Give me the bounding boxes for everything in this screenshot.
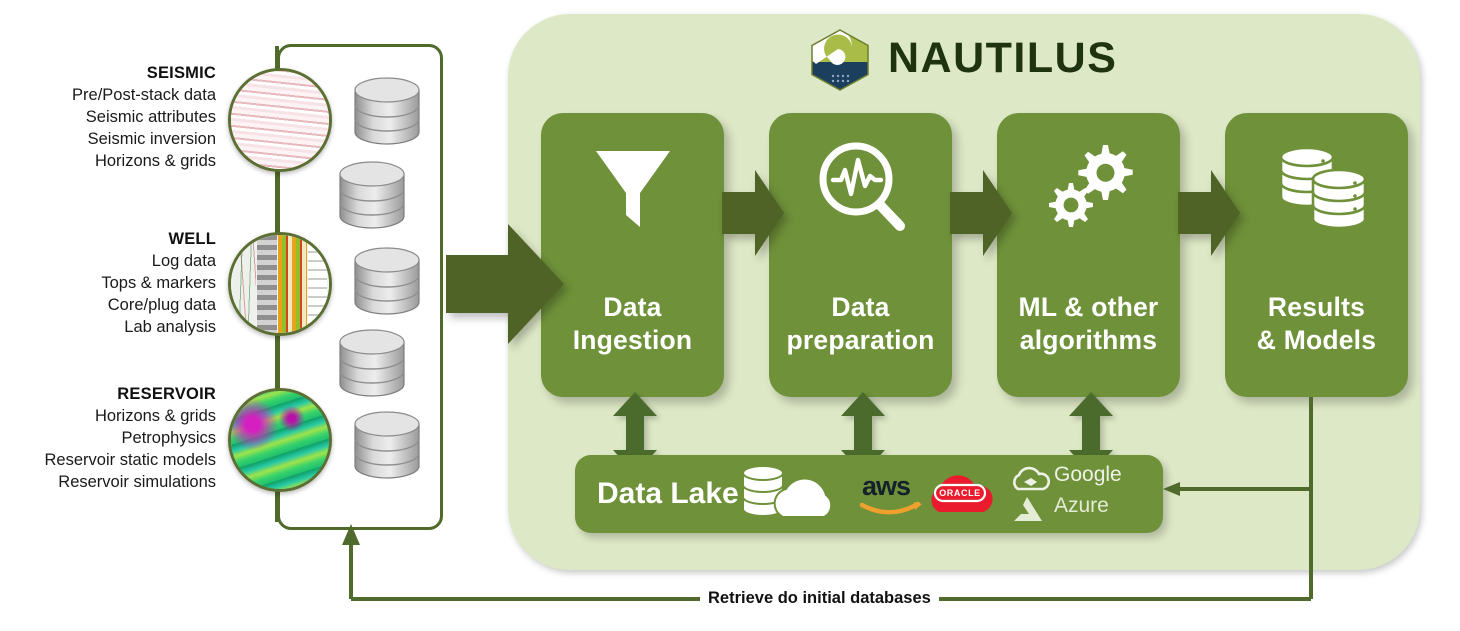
- process-box-ml-algorithms[interactable]: ML & other algorithms: [997, 113, 1180, 397]
- flow-arrow-3: [1178, 170, 1240, 256]
- process-label: ML & other algorithms: [997, 291, 1180, 357]
- azure-logo: [1011, 495, 1047, 523]
- source-item: Horizons & grids: [10, 150, 216, 172]
- flow-arrow-1: [722, 170, 784, 256]
- process-box-data-ingestion[interactable]: Data Ingestion: [541, 113, 724, 397]
- data-lake-label: Data Lake: [597, 477, 739, 511]
- database-cylinder-icon: [337, 162, 407, 230]
- google-label: Google: [1054, 463, 1122, 487]
- google-cloud-logo: [1011, 465, 1047, 491]
- database-cylinder-icon: [352, 78, 422, 146]
- source-block-well: WELL Log data Tops & markers Core/plug d…: [10, 228, 216, 338]
- brand-name: NAUTILUS: [888, 34, 1117, 83]
- source-item: Seismic attributes: [10, 106, 216, 128]
- database-cylinder-icon: [352, 412, 422, 480]
- source-item: Horizons & grids: [2, 405, 216, 427]
- process-box-data-preparation[interactable]: Data preparation: [769, 113, 952, 397]
- database-cylinder-icon: [337, 330, 407, 398]
- oracle-wordmark-frame: [934, 484, 986, 502]
- azure-label: Azure: [1054, 494, 1109, 518]
- feedback-label: Retrieve do initial databases: [700, 589, 939, 608]
- aws-logo: aws: [862, 471, 910, 502]
- gears-icon: [1041, 137, 1141, 237]
- process-box-results-models[interactable]: Results & Models: [1225, 113, 1408, 397]
- process-label: Data preparation: [769, 291, 952, 357]
- aws-swoosh-icon: [860, 501, 922, 517]
- seismic-section-thumbnail: [228, 68, 332, 172]
- database-stack-icon: [1273, 139, 1373, 235]
- source-block-seismic: SEISMIC Pre/Post-stack data Seismic attr…: [10, 62, 216, 172]
- source-item: Tops & markers: [10, 272, 216, 294]
- magnifier-waveform-icon: [815, 139, 909, 235]
- funnel-icon: [592, 145, 674, 233]
- source-item: Pre/Post-stack data: [10, 84, 216, 106]
- source-block-reservoir: RESERVOIR Horizons & grids Petrophysics …: [2, 383, 216, 493]
- source-item: Core/plug data: [10, 294, 216, 316]
- flow-arrow-2: [950, 170, 1012, 256]
- source-title: SEISMIC: [10, 62, 216, 84]
- source-item: Log data: [10, 250, 216, 272]
- nautilus-hexagon-logo: [808, 28, 872, 92]
- database-cylinder-icon: [352, 248, 422, 316]
- source-item: Reservoir static models: [2, 449, 216, 471]
- input-feed-arrow: [446, 222, 564, 346]
- well-log-thumbnail: [228, 232, 332, 336]
- source-title: RESERVOIR: [2, 383, 216, 405]
- process-label: Results & Models: [1225, 291, 1408, 357]
- source-item: Reservoir simulations: [2, 471, 216, 493]
- database-cloud-icon: [739, 461, 844, 529]
- process-label: Data Ingestion: [541, 291, 724, 357]
- reservoir-model-thumbnail: [228, 388, 332, 492]
- source-item: Petrophysics: [2, 427, 216, 449]
- source-title: WELL: [10, 228, 216, 250]
- source-item: Seismic inversion: [10, 128, 216, 150]
- source-item: Lab analysis: [10, 316, 216, 338]
